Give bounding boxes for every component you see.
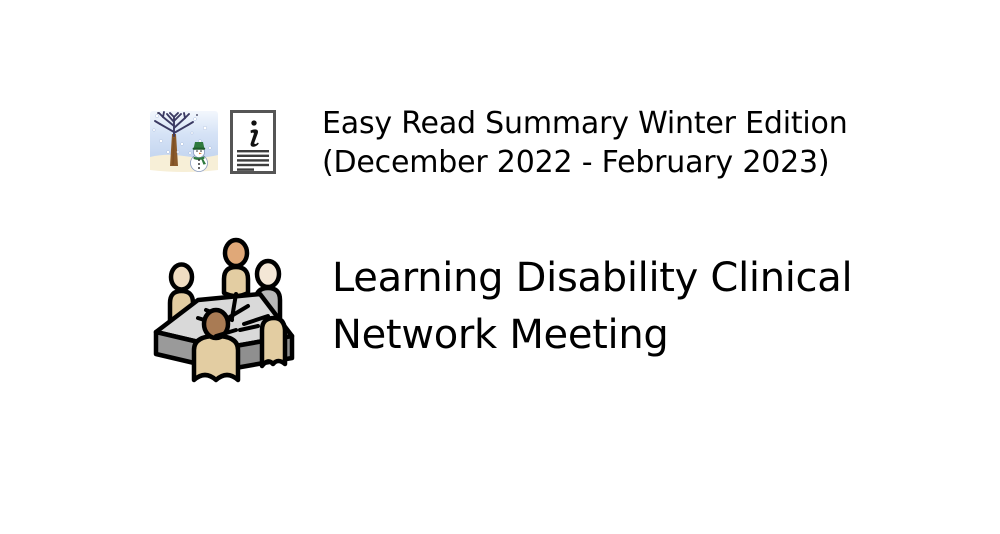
meeting-heading: Learning Disability Clinical Network Mee… <box>332 250 852 364</box>
meeting-heading-line-2: Network Meeting <box>332 307 852 364</box>
information-document-icon <box>228 108 278 176</box>
winter-tree-snow-icon <box>148 108 220 176</box>
summary-icon-group <box>148 104 278 176</box>
meeting-table-people-icon <box>136 232 308 388</box>
summary-row: Easy Read Summary Winter Edition (Decemb… <box>148 104 908 182</box>
summary-title-line-2: (December 2022 - February 2023) <box>322 143 848 182</box>
summary-title: Easy Read Summary Winter Edition (Decemb… <box>322 104 848 182</box>
easy-read-header-page: Easy Read Summary Winter Edition (Decemb… <box>0 0 1000 534</box>
meeting-row: Learning Disability Clinical Network Mee… <box>136 232 936 388</box>
meeting-heading-line-1: Learning Disability Clinical <box>332 250 852 307</box>
summary-title-line-1: Easy Read Summary Winter Edition <box>322 104 848 143</box>
